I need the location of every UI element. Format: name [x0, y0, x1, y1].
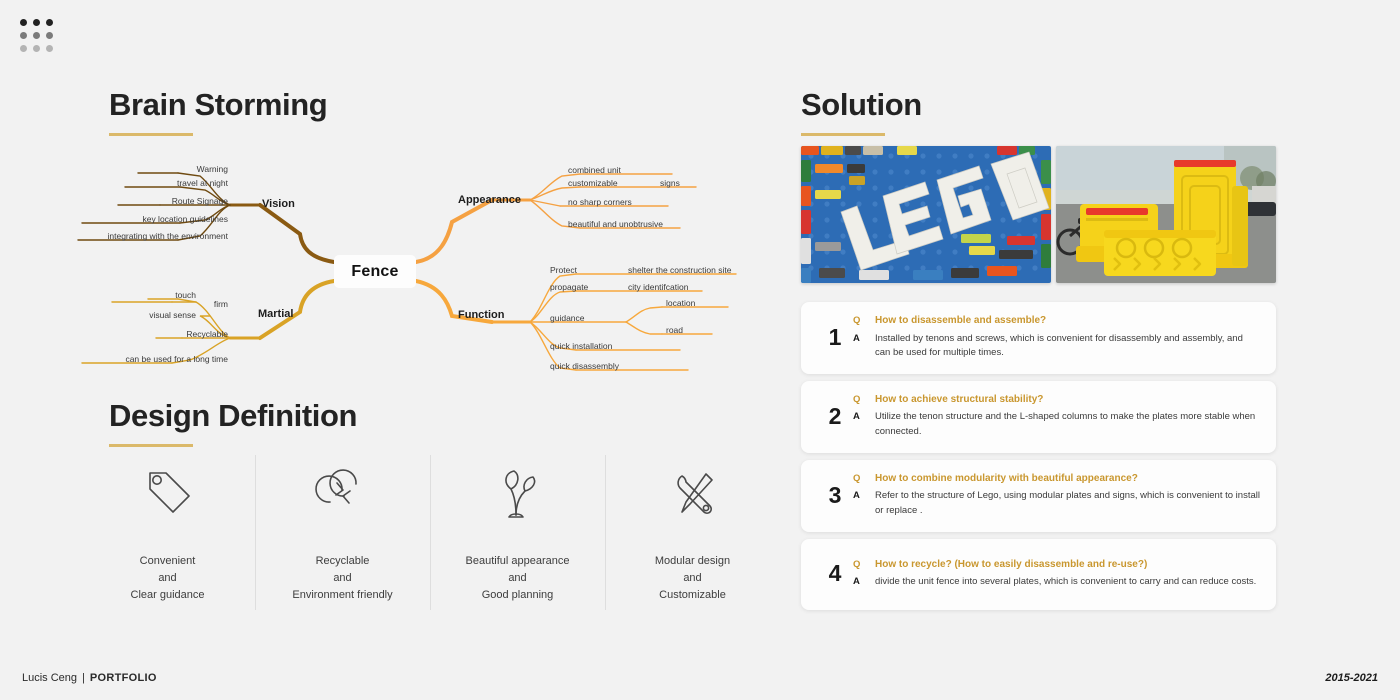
qa-question-text: How to recycle? (How to easily disassemb… — [869, 558, 1147, 573]
design-definition-heading: Design Definition — [109, 399, 357, 447]
mindmap-leaf-visual-sense: visual sense — [60, 311, 196, 320]
qa-question-text: How to combine modularity with beautiful… — [869, 472, 1138, 487]
qa-answer-tag: A — [853, 410, 869, 424]
mindmap-branch-vision: Vision — [262, 198, 295, 210]
dd-line2: and — [292, 570, 392, 587]
dot-grid-logo — [20, 19, 54, 53]
mindmap: Fence Vision Martial Appearance Function… — [60, 150, 780, 390]
design-definition-label: Convenient and Clear guidance — [131, 553, 205, 604]
yellow-barrier-photo — [1056, 146, 1276, 283]
design-definition-title: Design Definition — [109, 399, 357, 433]
mindmap-leaf-integrating-env: integrating with the environment — [60, 232, 228, 241]
qa-answer-text: Utilize the tenon structure and the L-sh… — [869, 410, 1260, 439]
footer-portfolio: PORTFOLIO — [90, 672, 157, 684]
mindmap-leaf-quick-disassembly: quick disassembly — [550, 362, 619, 371]
brainstorming-heading: Brain Storming — [109, 88, 327, 136]
design-definition-item: Convenient and Clear guidance — [80, 455, 255, 615]
mindmap-leaf-firm: firm — [60, 300, 228, 309]
mindmap-leaf-road: road — [666, 326, 683, 335]
mindmap-branch-appearance: Appearance — [458, 194, 521, 206]
qa-answer-row: A divide the unit fence into several pla… — [853, 575, 1260, 590]
qa-answer-tag: A — [853, 332, 869, 346]
mindmap-leaf-combined-unit: combined unit — [568, 166, 621, 175]
lego-bricks-photo — [801, 146, 1051, 283]
design-definition-label: Recyclable and Environment friendly — [292, 553, 392, 604]
mindmap-leaf-route-signage: Route Signage — [60, 197, 228, 206]
qa-number: 4 — [817, 560, 853, 587]
qa-question-tag: Q — [853, 314, 869, 328]
design-definition-item: Beautiful appearance and Good planning — [430, 455, 605, 615]
qa-question-row: Q How to recycle? (How to easily disasse… — [853, 558, 1260, 573]
qa-card[interactable]: 4 Q How to recycle? (How to easily disas… — [801, 539, 1276, 610]
dd-line2: and — [466, 570, 570, 587]
qa-card[interactable]: 2 Q How to achieve structural stability?… — [801, 381, 1276, 453]
qa-question-tag: Q — [853, 558, 869, 572]
qa-question-tag: Q — [853, 472, 869, 486]
mindmap-leaf-city-identification: city identifcation — [628, 283, 688, 292]
mindmap-leaf-shelter-site: shelter the construction site — [628, 266, 731, 275]
dd-line2: and — [131, 570, 205, 587]
mindmap-branch-function: Function — [458, 309, 504, 321]
design-definition-label: Modular design and Customizable — [655, 553, 730, 604]
qa-number: 2 — [817, 403, 853, 430]
portfolio-slide: Brain Storming Design Definition Solutio… — [0, 0, 1400, 700]
qa-answer-tag: A — [853, 575, 869, 589]
tools-icon — [664, 463, 722, 527]
tag-icon — [139, 463, 197, 527]
recycle-icon — [312, 463, 374, 527]
footer-left: Lucis Ceng | PORTFOLIO — [22, 672, 157, 684]
qa-question-row: Q How to achieve structural stability? — [853, 393, 1260, 408]
design-definition-item: Recyclable and Environment friendly — [255, 455, 430, 615]
solution-title: Solution — [801, 88, 922, 122]
heading-rule — [109, 444, 193, 447]
dd-line3: Good planning — [466, 587, 570, 604]
heading-rule — [801, 133, 885, 136]
qa-question-tag: Q — [853, 393, 869, 407]
sprout-icon — [489, 463, 547, 527]
dd-line1: Convenient — [131, 553, 205, 570]
design-definition-item: Modular design and Customizable — [605, 455, 780, 615]
mindmap-leaf-quick-installation: quick installation — [550, 342, 612, 351]
solution-qa-list: 1 Q How to disassemble and assemble? A I… — [801, 302, 1276, 617]
qa-body: Q How to recycle? (How to easily disasse… — [853, 558, 1260, 590]
mindmap-leaf-long-time: can be used for a long time — [60, 355, 228, 364]
solution-heading: Solution — [801, 88, 922, 136]
mindmap-leaf-propagate: propagate — [550, 283, 588, 292]
dd-line1: Beautiful appearance — [466, 553, 570, 570]
qa-card[interactable]: 3 Q How to combine modularity with beaut… — [801, 460, 1276, 532]
mindmap-leaf-customizable: customizable — [568, 179, 618, 188]
qa-answer-row: A Installed by tenons and screws, which … — [853, 332, 1260, 361]
qa-answer-row: A Utilize the tenon structure and the L-… — [853, 410, 1260, 439]
qa-question-text: How to disassemble and assemble? — [869, 314, 1046, 329]
mindmap-leaf-warning: Warning — [60, 165, 228, 174]
solution-images — [801, 146, 1276, 283]
mindmap-leaf-no-sharp-corners: no sharp corners — [568, 198, 632, 207]
qa-question-row: Q How to disassemble and assemble? — [853, 314, 1260, 329]
footer-years: 2015-2021 — [1325, 672, 1378, 684]
footer-author: Lucis Ceng — [22, 672, 77, 684]
qa-number: 3 — [817, 482, 853, 509]
qa-answer-text: Installed by tenons and screws, which is… — [869, 332, 1260, 361]
qa-number: 1 — [817, 324, 853, 351]
mindmap-leaf-location: location — [666, 299, 695, 308]
heading-rule — [109, 133, 193, 136]
mindmap-leaf-touch: touch — [60, 291, 196, 300]
footer-separator: | — [82, 672, 85, 684]
mindmap-leaf-travel-at-night: travel at night — [60, 179, 228, 188]
qa-body: Q How to disassemble and assemble? A Ins… — [853, 314, 1260, 361]
dd-line3: Clear guidance — [131, 587, 205, 604]
qa-answer-tag: A — [853, 489, 869, 503]
mindmap-leaf-beautiful-unobtrusive: beautiful and unobtrusive — [568, 220, 663, 229]
qa-card[interactable]: 1 Q How to disassemble and assemble? A I… — [801, 302, 1276, 374]
brainstorming-title: Brain Storming — [109, 88, 327, 122]
mindmap-branch-martial: Martial — [258, 308, 293, 320]
design-definition-row: Convenient and Clear guidance Recyclable… — [80, 455, 780, 615]
qa-answer-text: Refer to the structure of Lego, using mo… — [869, 489, 1260, 518]
dd-line2: and — [655, 570, 730, 587]
dd-line3: Customizable — [655, 587, 730, 604]
mindmap-leaf-guidance: guidance — [550, 314, 585, 323]
mindmap-leaf-protect: Protect — [550, 266, 577, 275]
mindmap-center-node: Fence — [334, 255, 416, 288]
qa-question-row: Q How to combine modularity with beautif… — [853, 472, 1260, 487]
dd-line1: Modular design — [655, 553, 730, 570]
qa-answer-text: divide the unit fence into several plate… — [869, 575, 1256, 590]
design-definition-label: Beautiful appearance and Good planning — [466, 553, 570, 604]
dd-line1: Recyclable — [292, 553, 392, 570]
mindmap-leaf-signs: signs — [660, 179, 680, 188]
mindmap-leaf-recyclable: Recyclable — [60, 330, 228, 339]
qa-body: Q How to combine modularity with beautif… — [853, 472, 1260, 519]
qa-body: Q How to achieve structural stability? A… — [853, 393, 1260, 440]
mindmap-leaf-key-location: key location guidelines — [60, 215, 228, 224]
qa-question-text: How to achieve structural stability? — [869, 393, 1043, 408]
dd-line3: Environment friendly — [292, 587, 392, 604]
qa-answer-row: A Refer to the structure of Lego, using … — [853, 489, 1260, 518]
